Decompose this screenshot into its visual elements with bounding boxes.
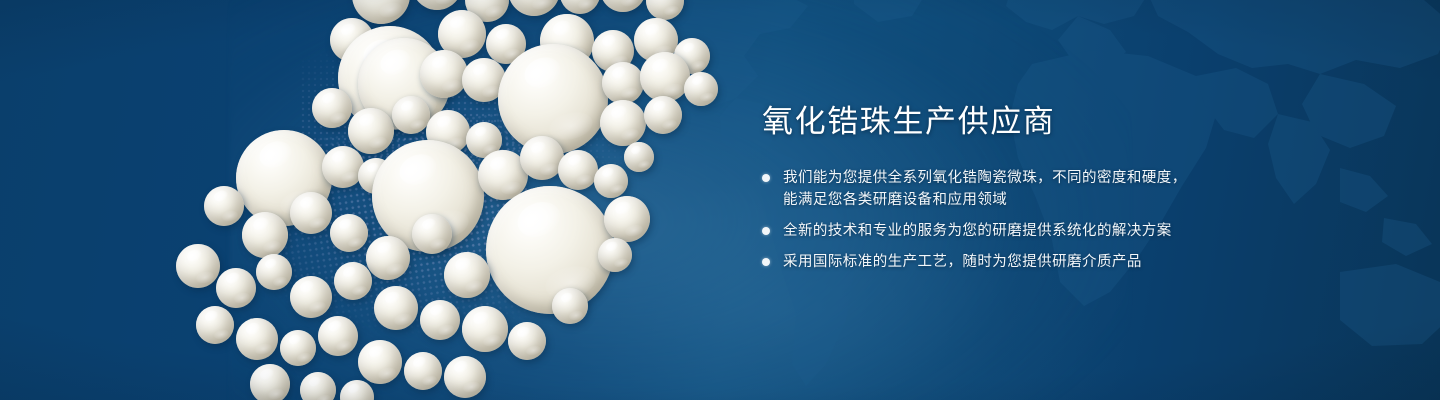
list-item: 我们能为您提供全系列氧化锆陶瓷微珠，不同的密度和硬度， 能满足您各类研磨设备和应… xyxy=(762,167,1362,211)
list-item-text: 全新的技术和专业的服务为您的研磨提供系统化的解决方案 xyxy=(783,220,1172,242)
list-item-text: 我们能为您提供全系列氧化锆陶瓷微珠，不同的密度和硬度， 能满足您各类研磨设备和应… xyxy=(783,167,1187,211)
list-item-text: 采用国际标准的生产工艺，随时为您提供研磨介质产品 xyxy=(783,251,1142,273)
dot-bullet-icon xyxy=(762,258,770,266)
feature-list: 我们能为您提供全系列氧化锆陶瓷微珠，不同的密度和硬度， 能满足您各类研磨设备和应… xyxy=(762,167,1362,273)
list-item: 采用国际标准的生产工艺，随时为您提供研磨介质产品 xyxy=(762,251,1362,273)
hero-banner: 氧化锆珠生产供应商 我们能为您提供全系列氧化锆陶瓷微珠，不同的密度和硬度， 能满… xyxy=(0,0,1440,400)
list-item: 全新的技术和专业的服务为您的研磨提供系统化的解决方案 xyxy=(762,220,1362,242)
dot-bullet-icon xyxy=(762,227,770,235)
list-item-line2: 能满足您各类研磨设备和应用领域 xyxy=(783,189,1187,211)
dot-bullet-icon xyxy=(762,174,770,182)
banner-content: 氧化锆珠生产供应商 我们能为您提供全系列氧化锆陶瓷微珠，不同的密度和硬度， 能满… xyxy=(762,104,1362,273)
list-item-line1: 我们能为您提供全系列氧化锆陶瓷微珠，不同的密度和硬度， xyxy=(783,170,1187,186)
page-title: 氧化锆珠生产供应商 xyxy=(762,104,1362,141)
